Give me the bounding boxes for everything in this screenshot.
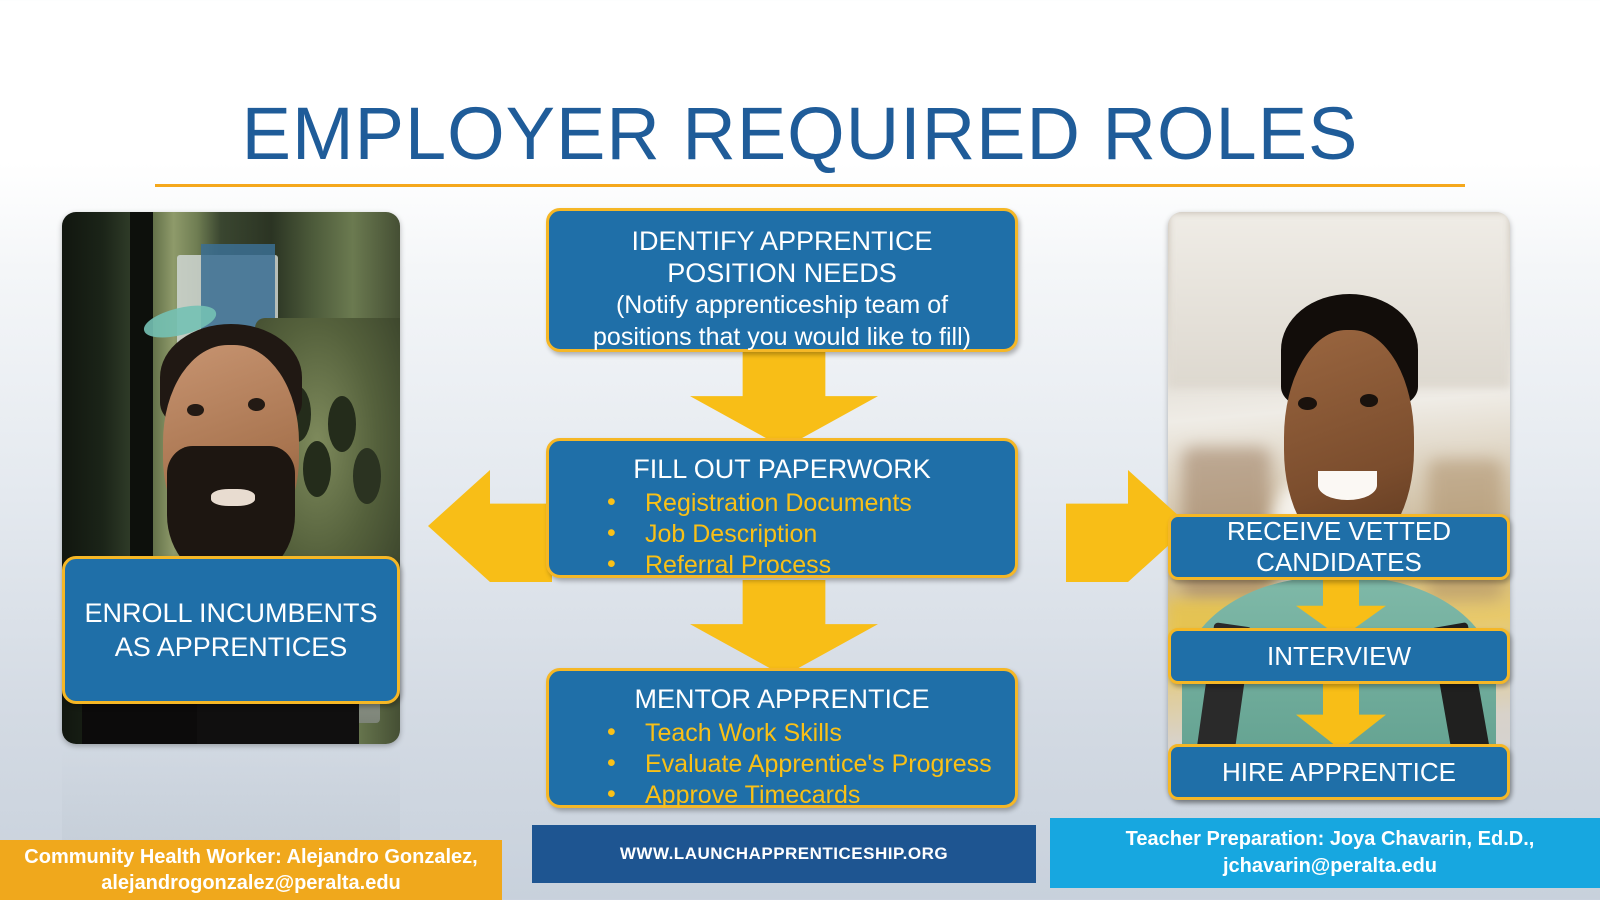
title-underline-rule bbox=[155, 184, 1465, 187]
identify-subtext: (Notify apprenticeship team of positions… bbox=[565, 289, 999, 353]
list-item: Approve Timecards bbox=[645, 780, 1001, 811]
arrow-down-paperwork-to-mentor bbox=[690, 580, 878, 676]
photo-left-mouth bbox=[211, 489, 255, 506]
flow-box-hire-apprentice[interactable]: HIRE APPRENTICE bbox=[1168, 744, 1510, 800]
page-title: EMPLOYER REQUIRED ROLES bbox=[0, 94, 1600, 174]
list-item: Referral Process bbox=[645, 550, 1001, 581]
flow-box-interview[interactable]: INTERVIEW bbox=[1168, 628, 1510, 684]
identify-heading: IDENTIFY APPRENTICE POSITION NEEDS bbox=[565, 225, 999, 289]
slide-canvas: EMPLOYER REQUIRED ROLES bbox=[0, 0, 1600, 900]
list-item: Evaluate Apprentice's Progress bbox=[645, 749, 1001, 780]
flow-box-mentor-apprentice[interactable]: MENTOR APPRENTICE Teach Work Skills Eval… bbox=[546, 668, 1018, 808]
photo-right-eye-left bbox=[1298, 397, 1317, 410]
arrow-left-to-enroll bbox=[428, 470, 552, 582]
list-item: Teach Work Skills bbox=[645, 718, 1001, 749]
mentor-heading: MENTOR APPRENTICE bbox=[563, 683, 1001, 716]
photo-left-post bbox=[130, 212, 154, 595]
flow-box-enroll-incumbents[interactable]: ENROLL INCUMBENTS AS APPRENTICES bbox=[62, 556, 400, 704]
list-item: Registration Documents bbox=[645, 488, 1001, 519]
mentor-bullet-list: Teach Work Skills Evaluate Apprentice's … bbox=[563, 718, 1001, 811]
paperwork-bullet-list: Registration Documents Job Description R… bbox=[563, 488, 1001, 581]
photo-left-eye-left bbox=[187, 404, 204, 417]
contact-banner-community-health-worker: Community Health Worker: Alejandro Gonza… bbox=[0, 840, 502, 900]
flow-box-identify-needs[interactable]: IDENTIFY APPRENTICE POSITION NEEDS (Noti… bbox=[546, 208, 1018, 352]
flow-box-fill-out-paperwork[interactable]: FILL OUT PAPERWORK Registration Document… bbox=[546, 438, 1018, 578]
flow-box-receive-vetted-candidates[interactable]: RECEIVE VETTED CANDIDATES bbox=[1168, 514, 1510, 580]
arrow-down-identify-to-paperwork bbox=[690, 352, 878, 448]
photo-left-eye-right bbox=[248, 398, 265, 411]
photo-right-smile bbox=[1318, 471, 1376, 500]
contact-banner-teacher-preparation: Teacher Preparation: Joya Chavarin, Ed.D… bbox=[1050, 818, 1600, 888]
list-item: Job Description bbox=[645, 519, 1001, 550]
paperwork-heading: FILL OUT PAPERWORK bbox=[563, 453, 1001, 486]
website-banner[interactable]: WWW.LAUNCHAPPRENTICESHIP.ORG bbox=[532, 825, 1036, 883]
